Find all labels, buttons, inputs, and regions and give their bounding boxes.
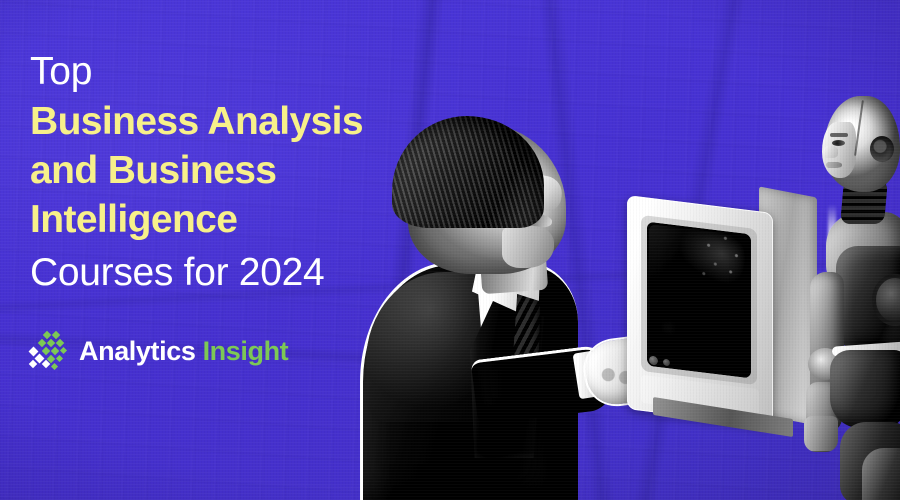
analytics-insight-logo[interactable]: Analytics Insight [28,330,288,372]
headline-block: Top Business Analysis and Business Intel… [30,52,363,292]
crt-monitor-photo [627,196,815,428]
logo-word-analytics: Analytics [79,336,195,366]
headline-line-3: and Business [30,151,363,190]
headline-line-1: Top [30,52,363,91]
robot-fingers [804,416,838,452]
headline-line-2: Business Analysis [30,102,363,141]
businessman-photo [352,122,620,500]
article-hero-banner: Top Business Analysis and Business Intel… [0,0,900,500]
robot-ear-module [870,136,894,162]
robot-hip [830,350,900,428]
robot-nose [824,146,838,158]
robot-mouth [826,162,842,168]
robot-thigh-front [862,448,900,500]
screen-speckle [699,229,747,285]
monitor-power-button [649,355,658,365]
logo-wordmark: Analytics Insight [79,336,288,367]
headline-line-5: Courses for 2024 [30,253,363,292]
dot-matrix-icon [28,330,68,372]
robot-brow [830,133,848,137]
monitor-control-button [663,359,670,367]
headline-line-4: Intelligence [30,200,363,239]
robot-eye [832,140,845,146]
logo-word-insight: Insight [203,336,289,366]
humanoid-robot-photo [800,96,900,500]
